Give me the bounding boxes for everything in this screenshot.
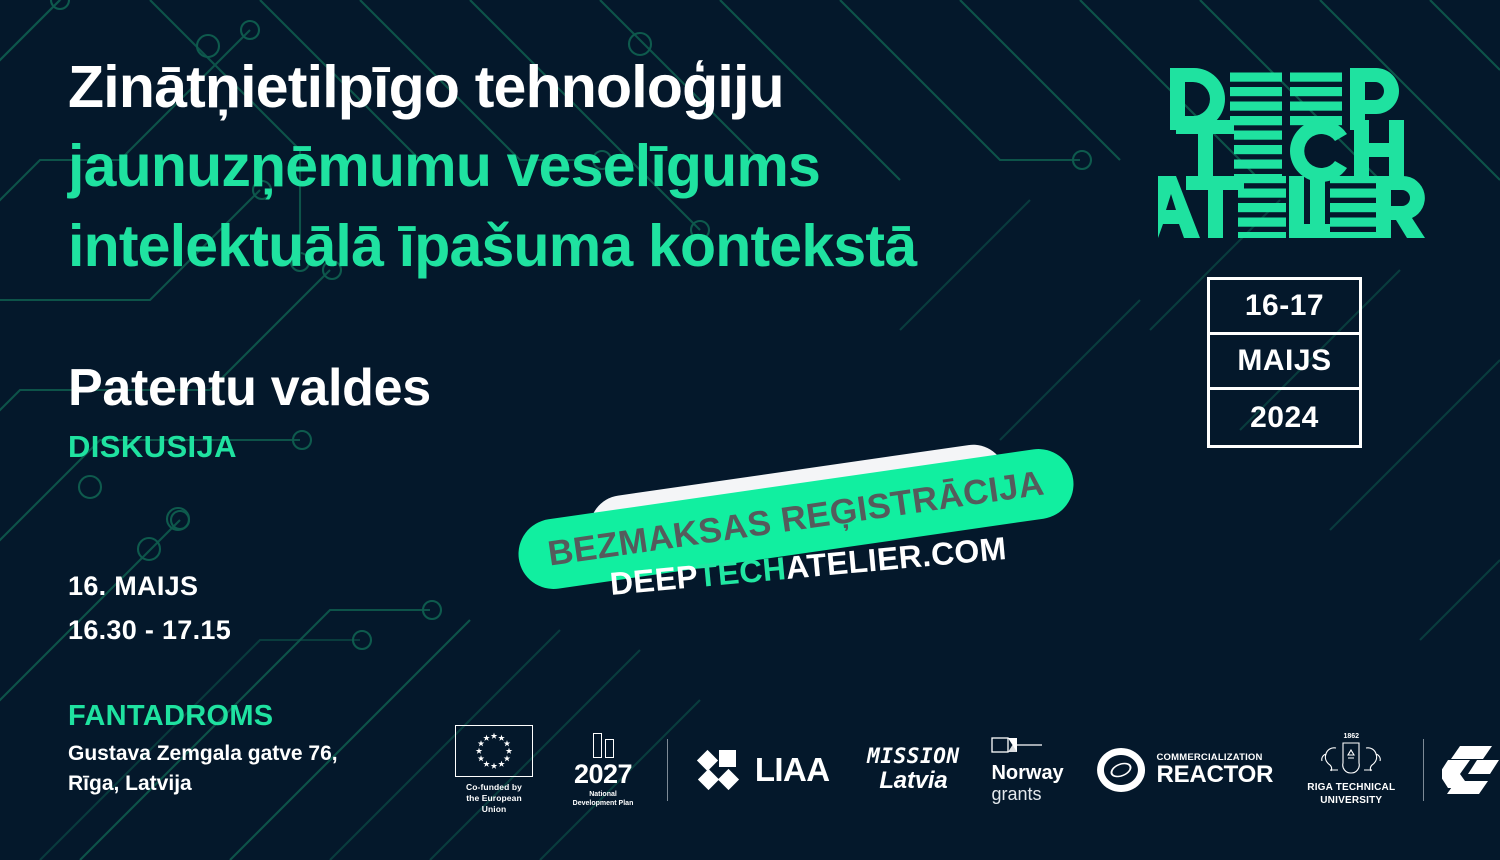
ndp-year: 2027 [557, 760, 649, 788]
partner-logo-strip: Co-funded by the European Union 2027 Nat… [455, 726, 1500, 814]
eu-flag-icon [455, 725, 533, 777]
partner-logo-riga-technical-university: 1862 RIGA TECHNICAL UNIVERSITY [1297, 726, 1405, 814]
liaa-wordmark: LIAA [755, 751, 830, 789]
mission-latvia-bottom: Latvia [859, 767, 967, 795]
headline-line-1: Zinātņietilpīgo tehnoloģiju [68, 48, 1078, 127]
ndp-bars-icon [557, 732, 649, 758]
commercialization-reactor-bottom: REACTOR [1156, 763, 1273, 787]
eu-caption-line-2: the European Union [455, 793, 533, 815]
venue-address: Gustava Zemgala gatve 76, Rīga, Latvija [68, 739, 338, 800]
headline-block: Zinātņietilpīgo tehnoloģiju jaunuzņēmumu… [68, 48, 1078, 465]
deep-tech-atelier-logo [1158, 58, 1438, 243]
venue-block: FANTADROMS Gustava Zemgala gatve 76, Rīg… [68, 700, 338, 800]
logo-divider [667, 739, 668, 801]
logo-divider-2 [1423, 739, 1424, 801]
ndp-caption-line-1: National [557, 790, 649, 799]
eu-caption-line-1: Co-funded by [455, 782, 533, 793]
partner-logo-eu: Co-funded by the European Union [455, 726, 533, 814]
registration-url-part-2: TECH [696, 550, 787, 594]
partner-logo-commercialization-reactor: COMMERCIALIZATION REACTOR [1095, 726, 1273, 814]
headline-line-3: intelektuālā īpašuma kontekstā [68, 207, 1078, 286]
event-headline: Zinātņietilpīgo tehnoloģiju jaunuzņēmumu… [68, 48, 1078, 286]
rtu-sic-hexagon-icon [1442, 744, 1500, 796]
event-poster: Zinātņietilpīgo tehnoloģiju jaunuzņēmumu… [0, 0, 1500, 860]
ndp-caption: National Development Plan [557, 790, 649, 808]
venue-address-line-1: Gustava Zemgala gatve 76, [68, 739, 338, 769]
rtu-caption-line-1: RIGA TECHNICAL [1297, 781, 1405, 794]
registration-url-part-1: DEEP [608, 558, 699, 602]
venue-address-line-2: Rīga, Latvija [68, 769, 338, 799]
rtu-caption-line-2: UNIVERSITY [1297, 794, 1405, 807]
headline-line-2: jaunuzņēmumu veselīgums [68, 127, 1078, 206]
partner-logo-liaa: LIAA [700, 726, 830, 814]
registration-block[interactable]: BEZMAKSAS REĢISTRĀCIJA DEEPTECHATELIER.C… [500, 462, 1100, 632]
session-time: 16.30 - 17.15 [68, 609, 231, 653]
rtu-founding-year: 1862 [1297, 733, 1405, 740]
event-date-badge: 16-17 MAIJS 2024 [1207, 277, 1362, 448]
session-date: 16. MAIJS [68, 565, 231, 609]
rtu-caption: RIGA TECHNICAL UNIVERSITY [1297, 781, 1405, 807]
rtu-crest-icon [1314, 740, 1388, 778]
event-year: 2024 [1210, 390, 1359, 445]
ndp-caption-line-2: Development Plan [557, 799, 649, 808]
session-title: Patentu valdes [68, 361, 1078, 416]
partner-logo-mission-latvia: MISSION Latvia [859, 726, 967, 814]
liaa-mark-icon [700, 750, 744, 790]
venue-name: FANTADROMS [68, 700, 338, 733]
partner-logo-norway-grants: Norway grants [991, 726, 1069, 814]
norway-grants-icon [991, 736, 1043, 762]
event-month: MAIJS [1210, 335, 1359, 390]
norway-grants-top: Norway [991, 762, 1069, 784]
eu-caption: Co-funded by the European Union [455, 782, 533, 816]
partner-logo-rtu-science-innovation-centre: RTU SCIENCE AND INNOVATION CENTRE [1442, 726, 1500, 814]
commercialization-reactor-icon [1095, 746, 1147, 794]
event-days: 16-17 [1210, 280, 1359, 335]
partner-logo-national-development-plan: 2027 National Development Plan [557, 726, 649, 814]
session-schedule: 16. MAIJS 16.30 - 17.15 [68, 565, 231, 652]
mission-latvia-top: MISSION [859, 746, 967, 767]
norway-grants-bottom: grants [991, 784, 1069, 805]
